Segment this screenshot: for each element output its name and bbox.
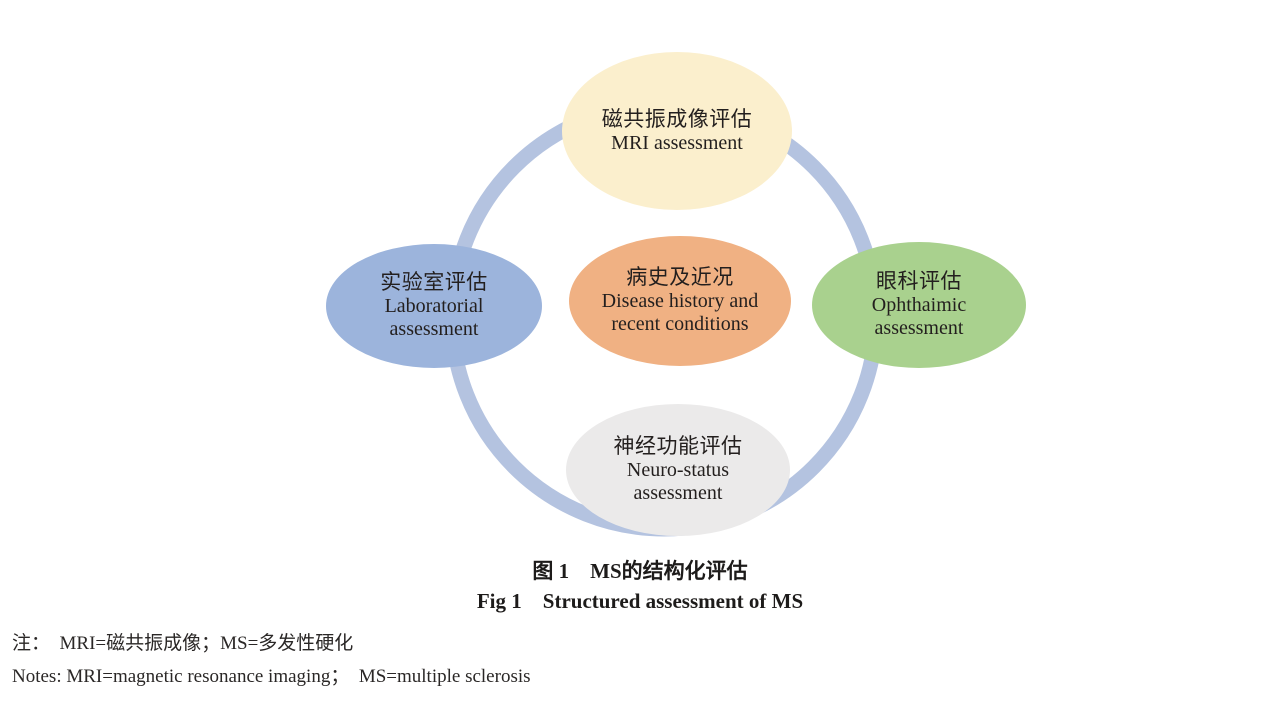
node-mri-assessment[interactable]: 磁共振成像评估 MRI assessment [562,52,792,210]
node-lab-label-en: Laboratorial assessment [385,295,484,342]
node-neuro-status-assessment[interactable]: 神经功能评估 Neuro-status assessment [566,404,790,536]
node-laboratorial-assessment[interactable]: 实验室评估 Laboratorial assessment [326,244,542,368]
node-ophthalmic-assessment[interactable]: 眼科评估 Ophthaimic assessment [812,242,1026,368]
figure-diagram: 磁共振成像评估 MRI assessment 实验室评估 Laboratoria… [0,0,1280,550]
node-neuro-label-en: Neuro-status assessment [627,459,729,506]
figure-notes-cn: 注： MRI=磁共振成像；MS=多发性硬化 [12,627,1012,660]
node-history-label-en: Disease history and recent conditions [602,290,759,337]
node-history-label-cn: 病史及近况 [626,265,734,290]
node-neuro-label-cn: 神经功能评估 [614,434,743,459]
figure-notes-en: Notes: MRI=magnetic resonance imaging； M… [12,660,1012,693]
node-disease-history[interactable]: 病史及近况 Disease history and recent conditi… [569,236,791,366]
node-ophth-label-cn: 眼科评估 [876,269,962,294]
figure-caption-en: Fig 1 Structured assessment of MS [0,586,1280,616]
node-lab-label-cn: 实验室评估 [380,270,488,295]
figure-notes: 注： MRI=磁共振成像；MS=多发性硬化 Notes: MRI=magneti… [12,627,1012,694]
figure-caption-cn: 图 1 MS的结构化评估 [0,556,1280,586]
node-mri-label-en: MRI assessment [611,132,743,155]
figure-caption: 图 1 MS的结构化评估 Fig 1 Structured assessment… [0,556,1280,617]
node-mri-label-cn: 磁共振成像评估 [602,107,753,132]
node-ophth-label-en: Ophthaimic assessment [872,294,966,341]
